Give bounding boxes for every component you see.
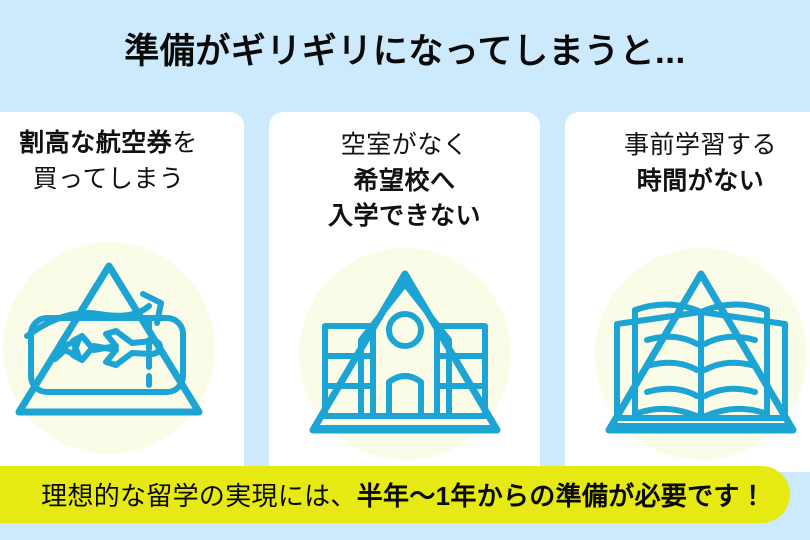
page-title: 準備がギリギリになってしまうと... [0, 0, 810, 96]
school-building-icon [299, 248, 511, 460]
card-row: 割高な航空券を 買ってしまう [0, 112, 810, 472]
card-school[interactable]: 空室がなく 希望校へ 入学できない [269, 112, 540, 472]
card-school-text: 空室がなく 希望校へ 入学できない [269, 128, 540, 235]
card-study-line-2: 時間がない [565, 164, 810, 200]
card-airfare[interactable]: 割高な航空券を 買ってしまう [0, 112, 244, 472]
card-airfare-line-1-bold: 割高な航空券 [19, 129, 172, 157]
slide-canvas: 準備がギリギリになってしまうと... 割高な航空券を 買ってしまう [0, 0, 810, 540]
airplane-ticket-price-up-icon [3, 242, 215, 454]
headline-text: 準備がギリギリになってしまうと... [124, 23, 685, 74]
card-airfare-line-1: 割高な航空券を [0, 126, 244, 162]
card-study-icon-wrap [595, 248, 807, 460]
open-book-icon [595, 248, 807, 460]
card-school-line-2: 希望校へ [269, 164, 540, 200]
card-study-text: 事前学習する 時間がない [565, 128, 810, 199]
card-school-icon-wrap [299, 248, 511, 460]
card-study[interactable]: 事前学習する 時間がない [565, 112, 810, 472]
card-school-line-1: 空室がなく [269, 128, 540, 164]
card-study-line-1: 事前学習する [565, 128, 810, 164]
summary-banner-bold: 半年〜1年からの準備が必要です！ [357, 481, 766, 511]
card-airfare-line-1-normal: を [172, 129, 198, 157]
card-airfare-text: 割高な航空券を 買ってしまう [0, 126, 244, 197]
summary-banner: 理想的な留学の実現には、半年〜1年からの準備が必要です！ [0, 466, 790, 523]
card-airfare-line-2: 買ってしまう [0, 162, 244, 198]
summary-banner-normal: 理想的な留学の実現には、 [41, 481, 357, 511]
card-school-line-3: 入学できない [269, 199, 540, 235]
summary-banner-text: 理想的な留学の実現には、半年〜1年からの準備が必要です！ [41, 476, 766, 513]
card-airfare-icon-wrap [3, 242, 215, 454]
